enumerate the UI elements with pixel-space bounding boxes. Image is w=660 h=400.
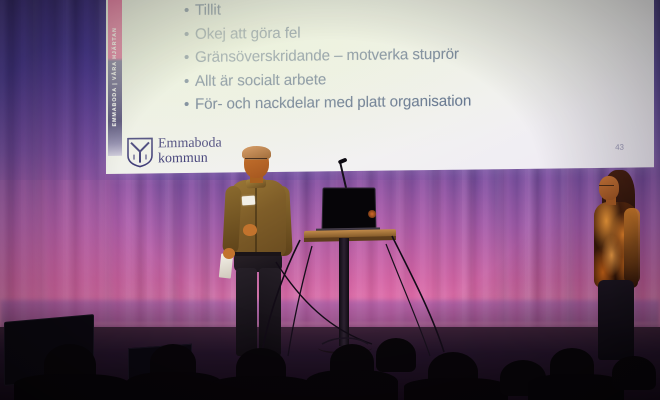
audience-silhouettes	[0, 300, 660, 400]
list-item	[126, 372, 222, 400]
list-item	[306, 370, 398, 400]
list-item	[210, 376, 314, 400]
list-item	[404, 378, 508, 400]
list-item	[376, 338, 416, 372]
list-item	[528, 374, 624, 400]
list-item	[14, 374, 130, 400]
list-item	[612, 356, 656, 390]
presentation-photo: EMMABODA | VÅRA HJÄRTAN • Tillit • Okej …	[0, 0, 660, 400]
